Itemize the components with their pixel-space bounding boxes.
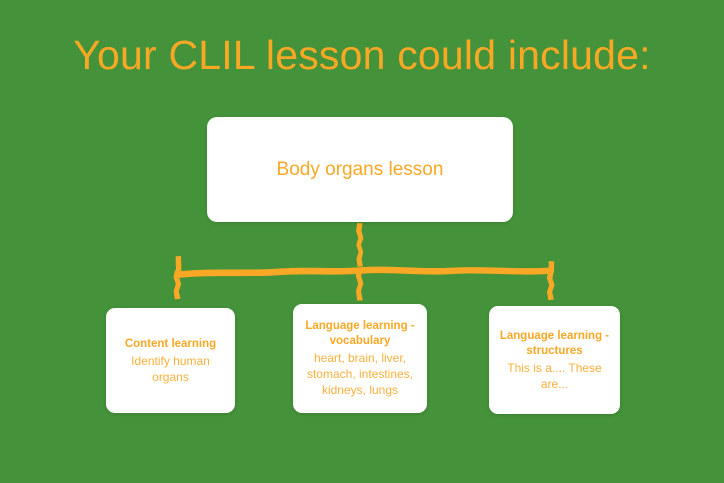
slide-canvas: Your CLIL lesson could include: Body org… xyxy=(0,0,724,483)
branch-card-content-learning: Content learning Identify human organs xyxy=(106,308,235,413)
branch-card-body: This is a.... These are... xyxy=(497,360,612,392)
branch-card-body: heart, brain, liver, stomach, intestines… xyxy=(301,350,419,398)
branch-card-language-structures: Language learning - structures This is a… xyxy=(489,306,620,414)
root-node-label: Body organs lesson xyxy=(277,157,444,183)
branch-card-body: Identify human organs xyxy=(114,353,227,385)
branch-card-title: Language learning - vocabulary xyxy=(301,319,419,349)
page-title: Your CLIL lesson could include: xyxy=(0,28,724,82)
branch-card-title: Content learning xyxy=(125,337,216,352)
branch-card-language-vocabulary: Language learning - vocabulary heart, br… xyxy=(293,304,427,413)
root-node-card: Body organs lesson xyxy=(207,117,513,222)
branch-card-title: Language learning - structures xyxy=(497,329,612,359)
